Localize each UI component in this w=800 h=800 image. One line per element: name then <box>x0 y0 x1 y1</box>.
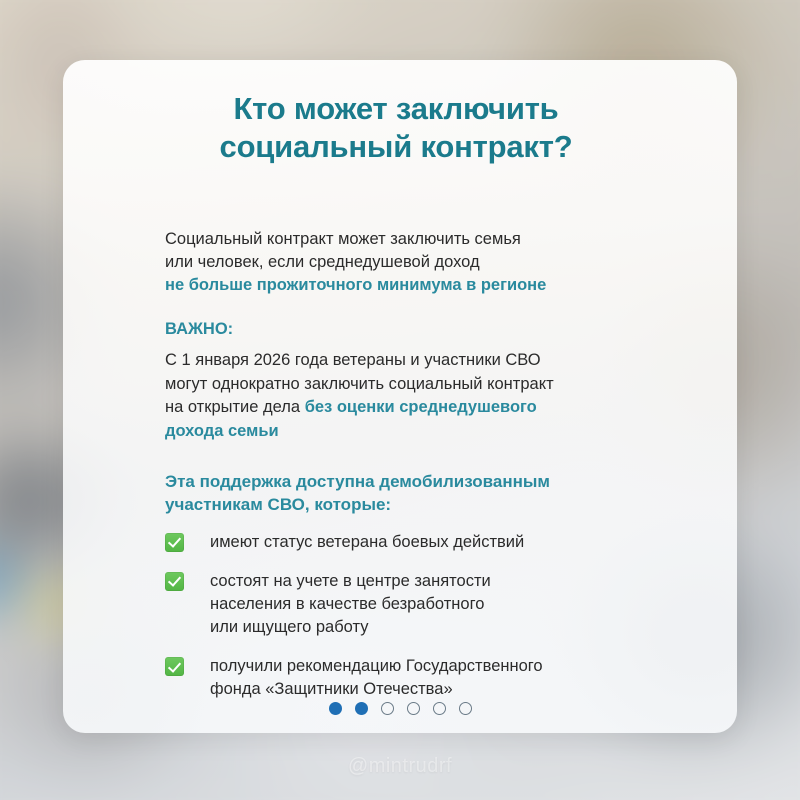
list-item: состоят на учете в центре занятости насе… <box>165 570 693 639</box>
card-body: Социальный контракт может заключить семь… <box>165 228 693 733</box>
slide-screen: @mintrudrf Кто может заключить социальны… <box>0 0 800 800</box>
intro-paragraph: Социальный контракт может заключить семь… <box>165 228 693 298</box>
intro-line-2: или человек, если среднедушевой доход <box>165 251 693 274</box>
watermark: @mintrudrf <box>0 755 800 778</box>
pagination-dot-4[interactable] <box>407 702 420 715</box>
check-icon <box>165 572 184 591</box>
intro-line-1: Социальный контракт может заключить семь… <box>165 228 693 251</box>
check-icon <box>165 533 184 552</box>
info-card: Кто может заключить социальный контракт?… <box>63 60 737 733</box>
important-line-3: на открытие дела без оценки среднедушево… <box>165 396 693 419</box>
pagination-dot-3[interactable] <box>381 702 394 715</box>
list-item-line: фонда «Защитники Отечества» <box>210 678 543 701</box>
list-item-text: имеют статус ветерана боевых действий <box>210 531 524 554</box>
pagination-dot-5[interactable] <box>433 702 446 715</box>
important-line-2: могут однократно заключить социальный ко… <box>165 373 693 396</box>
important-line-3-accent: без оценки среднедушевого <box>305 398 537 416</box>
list-item-line: или ищущего работу <box>210 616 491 639</box>
pagination-dot-1[interactable] <box>329 702 342 715</box>
check-icon <box>165 657 184 676</box>
list-item-text: получили рекомендацию Государственного ф… <box>210 655 543 701</box>
pagination-dots[interactable] <box>63 702 737 715</box>
pagination-dot-2[interactable] <box>355 702 368 715</box>
list-item-line: имеют статус ветерана боевых действий <box>210 531 524 554</box>
page-title-line-2: социальный контракт? <box>107 128 685 166</box>
intro-accent-line: не больше прожиточного минимума в регион… <box>165 274 693 297</box>
page-title-line-1: Кто может заключить <box>107 90 685 128</box>
important-label: ВАЖНО: <box>165 318 693 341</box>
checklist: имеют статус ветерана боевых действий со… <box>165 531 693 702</box>
list-item-line: населения в качестве безработного <box>210 593 491 616</box>
checklist-heading-line-2: участникам СВО, которые: <box>165 494 693 517</box>
important-paragraph: С 1 января 2026 года ветераны и участник… <box>165 349 693 443</box>
pagination-dot-6[interactable] <box>459 702 472 715</box>
checklist-heading: Эта поддержка доступна демобилизованным … <box>165 471 693 517</box>
important-line-1: С 1 января 2026 года ветераны и участник… <box>165 349 693 372</box>
important-line-3-plain: на открытие дела <box>165 398 305 416</box>
card-content: Кто может заключить социальный контракт?… <box>63 60 737 733</box>
list-item-line: получили рекомендацию Государственного <box>210 655 543 678</box>
list-item-text: состоят на учете в центре занятости насе… <box>210 570 491 639</box>
important-line-4-accent: дохода семьи <box>165 420 693 443</box>
list-item: получили рекомендацию Государственного ф… <box>165 655 693 701</box>
page-title: Кто может заключить социальный контракт? <box>107 90 693 166</box>
list-item-line: состоят на учете в центре занятости <box>210 570 491 593</box>
checklist-heading-line-1: Эта поддержка доступна демобилизованным <box>165 471 693 494</box>
list-item: имеют статус ветерана боевых действий <box>165 531 693 554</box>
